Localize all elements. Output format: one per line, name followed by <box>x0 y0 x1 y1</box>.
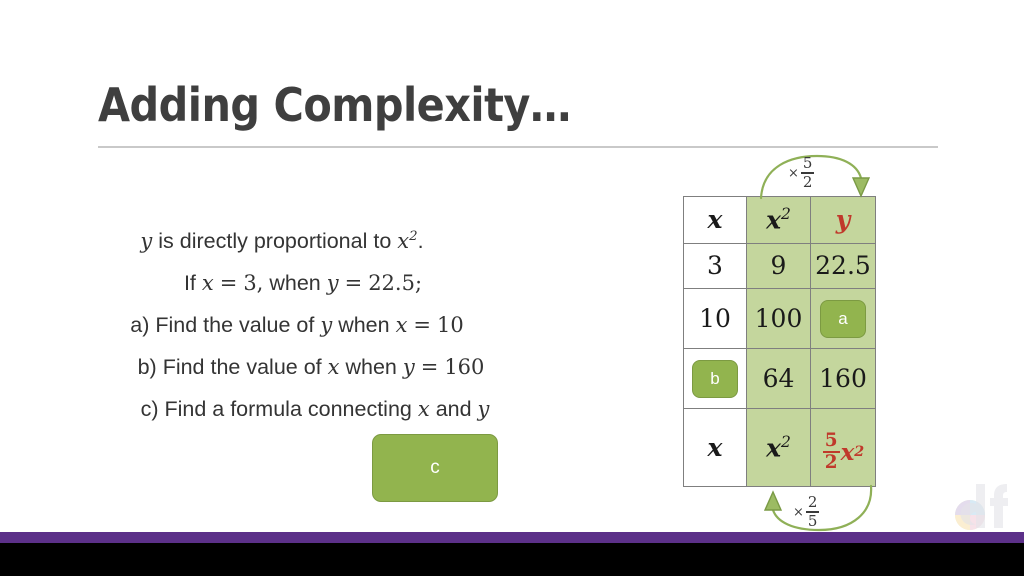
given-equals-2: = <box>345 271 363 295</box>
part-c-text-mid: and <box>436 397 472 421</box>
table-footer-row: x x2 5 2 x2 <box>684 409 876 487</box>
part-a-label: a) <box>130 313 149 337</box>
table-row: 10 100 a <box>684 289 876 349</box>
part-b-variable-2: y <box>403 355 415 379</box>
part-c-label: c) <box>141 397 159 421</box>
question-line-1-text: is directly proportional to <box>152 229 397 253</box>
cell-x-row3: b <box>684 349 747 409</box>
footer-fraction-denominator: 2 <box>823 454 840 472</box>
cell-x-row2: 10 <box>684 289 747 349</box>
bottom-arrow-label: × 2 5 <box>793 495 820 529</box>
given-equals-1: = <box>220 271 238 295</box>
page-title: Adding Complexity… <box>98 78 571 132</box>
cell-x2-footer: x2 <box>747 409 811 487</box>
values-table: x x2 y 3 9 22.5 10 100 a <box>683 196 872 487</box>
part-a-value: 10 <box>437 313 464 337</box>
footer-coefficient-fraction: 5 2 <box>823 432 840 473</box>
part-b-text-mid: when <box>345 355 396 379</box>
exponent-2: 2 <box>409 229 417 244</box>
cell-y-row3: 160 <box>811 349 876 409</box>
given-value-x: 3, <box>243 271 263 295</box>
table-header-y: y <box>811 197 876 244</box>
slide-canvas: Adding Complexity… y is directly proport… <box>0 0 1024 576</box>
answer-badge-a[interactable]: a <box>820 300 866 338</box>
cell-y-row2: a <box>811 289 876 349</box>
given-value-y: 22.5; <box>368 271 422 295</box>
footer-black-bar <box>0 543 1024 576</box>
table-header-x: x <box>684 197 747 244</box>
part-b-value: 160 <box>444 355 484 379</box>
variable-y: y <box>140 229 152 253</box>
cell-x2-row1: 9 <box>747 243 811 289</box>
cell-x-row1: 3 <box>684 243 747 289</box>
footer-y-variable: x <box>841 439 855 466</box>
question-block: y is directly proportional to x2. If x =… <box>80 216 550 430</box>
question-line-2: If x = 3, when y = 22.5; <box>80 262 550 304</box>
cell-x2-row3: 64 <box>747 349 811 409</box>
bottom-arrow-operator: × <box>793 505 804 520</box>
footer-y-exponent: 2 <box>854 444 864 460</box>
given-when-label: when <box>269 271 320 295</box>
table-header-x2-exponent: 2 <box>781 205 791 223</box>
table-row: 3 9 22.5 <box>684 243 876 289</box>
question-part-c: c) Find a formula connecting x and y <box>80 388 550 430</box>
table-header-x2-base: x <box>766 205 781 234</box>
answer-badge-b[interactable]: b <box>692 360 738 398</box>
part-c-variable-2: y <box>478 397 490 421</box>
table-header-x2: x2 <box>747 197 811 244</box>
footer-accent-bar <box>0 532 1024 543</box>
question-part-b: b) Find the value of x when y = 160 <box>80 346 550 388</box>
top-arrow-numerator: 5 <box>801 156 815 171</box>
table-header-y-label: y <box>836 205 851 234</box>
part-a-text-before: Find the value of <box>155 313 314 337</box>
part-c-text-before: Find a formula connecting <box>164 397 411 421</box>
variable-x: x <box>397 229 409 253</box>
footer-x-label: x <box>708 433 723 462</box>
top-arrow-label: × 5 2 <box>788 156 815 190</box>
part-c-variable-1: x <box>418 397 430 421</box>
footer-x2-base: x <box>766 433 781 462</box>
given-variable-y: y <box>327 271 339 295</box>
table-header-row: x x2 y <box>684 197 876 244</box>
footer-fraction-numerator: 5 <box>823 432 840 450</box>
bottom-arrow-denominator: 5 <box>806 514 820 529</box>
part-a-variable-1: y <box>320 313 332 337</box>
part-b-text-before: Find the value of <box>163 355 322 379</box>
part-a-text-mid: when <box>338 313 389 337</box>
table-header-x-label: x <box>708 205 723 234</box>
given-if-label: If <box>184 271 196 295</box>
cell-y-footer: 5 2 x2 <box>811 409 876 487</box>
bottom-arrow-numerator: 2 <box>806 495 820 510</box>
title-divider <box>98 146 938 148</box>
top-arrow-denominator: 2 <box>801 175 815 190</box>
question-line-1-period: . <box>418 229 424 253</box>
part-b-label: b) <box>138 355 157 379</box>
cell-x2-row2: 100 <box>747 289 811 349</box>
question-part-a: a) Find the value of y when x = 10 <box>80 304 550 346</box>
cell-y-row1: 22.5 <box>811 243 876 289</box>
given-variable-x: x <box>202 271 214 295</box>
table-row: b 64 160 <box>684 349 876 409</box>
answer-box-c[interactable]: c <box>372 434 498 502</box>
part-a-variable-2: x <box>396 313 408 337</box>
cell-x-footer: x <box>684 409 747 487</box>
part-a-equals: = <box>413 313 431 337</box>
footer-x2-exponent: 2 <box>781 433 791 451</box>
df-logo-watermark <box>948 482 1014 532</box>
multiply-arrow-top-icon <box>757 152 875 200</box>
top-arrow-operator: × <box>788 166 799 181</box>
part-b-equals: = <box>421 355 439 379</box>
part-b-variable-1: x <box>328 355 340 379</box>
question-line-1: y is directly proportional to x2. <box>80 216 550 262</box>
